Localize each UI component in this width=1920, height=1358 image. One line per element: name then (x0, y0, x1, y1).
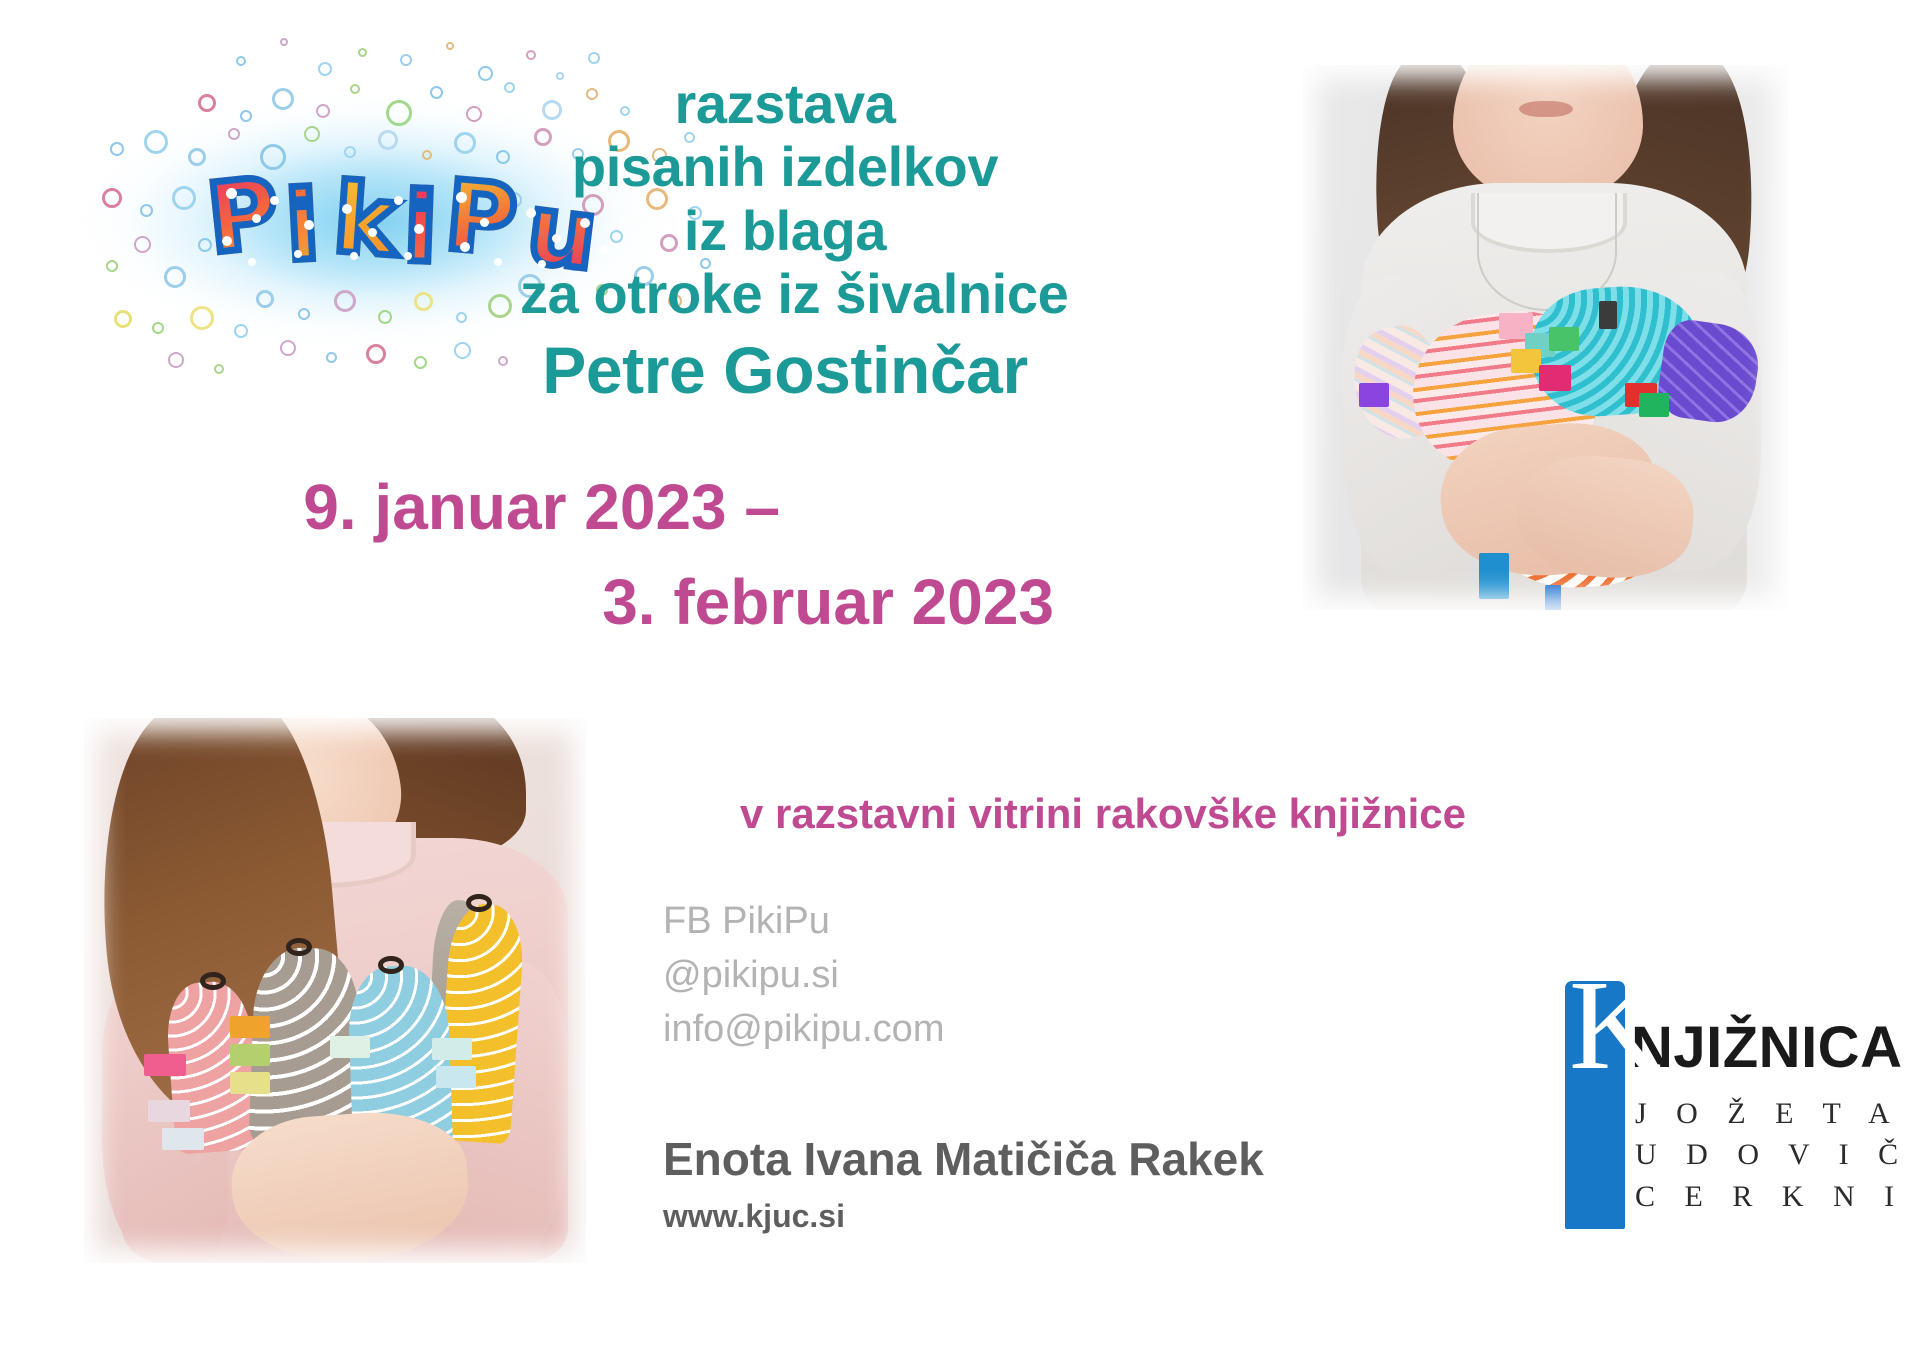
bubble-icon (366, 344, 386, 364)
ribbon-tag (230, 1016, 270, 1038)
ribbon-tag (1479, 553, 1509, 599)
library-logo: K NJIŽNICA J O Ž E T A U D O V I Č A C E… (1565, 975, 1855, 1230)
logo-subtext-line-3: C E R K N I C A (1635, 1176, 1920, 1217)
bubble-icon (358, 48, 367, 57)
organizer-unit: Enota Ivana Matičiča Rakek (663, 1134, 1264, 1185)
date-end: 3. februar 2023 (500, 565, 1054, 639)
bubble-icon (446, 42, 454, 50)
bubble-icon (430, 86, 443, 99)
logo-initial-k: K (1569, 961, 1661, 1089)
ribbon-tag (230, 1072, 270, 1094)
hanging-loop-icon (378, 956, 404, 974)
bubble-icon (256, 290, 274, 308)
bubble-icon (110, 142, 124, 156)
bubble-icon (214, 364, 224, 374)
bubble-icon (422, 150, 432, 160)
ribbon-tag (1359, 383, 1389, 407)
contact-email: info@pikipu.com (663, 1003, 944, 1057)
logo-main-text: NJIŽNICA (1631, 1019, 1902, 1077)
hanging-loop-icon (286, 938, 312, 956)
date-start: 9. januar 2023 – (160, 470, 780, 544)
organizer-block: Enota Ivana Matičiča Rakek www.kjuc.si (663, 1134, 1264, 1234)
bubble-icon (236, 56, 246, 66)
organizer-website: www.kjuc.si (663, 1199, 1264, 1234)
bubble-icon (316, 104, 330, 118)
bubble-icon (298, 308, 310, 320)
bubble-icon (140, 204, 153, 217)
bubble-icon (280, 38, 288, 46)
ribbon-tag (162, 1128, 204, 1150)
bubble-icon (414, 292, 433, 311)
ribbon-tag (144, 1054, 186, 1076)
bubble-icon (272, 88, 294, 110)
bubble-icon (498, 356, 508, 366)
ribbon-tag (1639, 393, 1669, 417)
bubble-icon (234, 324, 248, 338)
logo-letter-k: k (331, 170, 401, 270)
bubble-icon (588, 52, 600, 64)
bubble-icon (134, 236, 151, 253)
logo-letter-i2: i (402, 179, 438, 276)
bubble-icon (164, 266, 186, 288)
bubble-icon (350, 84, 360, 94)
photo-girl-with-bird-toys (1303, 65, 1788, 610)
hanging-loop-icon (200, 972, 226, 990)
contact-block: FB PikiPu @pikipu.si info@pikipu.com (663, 895, 944, 1057)
poster-root: P i k i P u (0, 0, 1920, 1358)
bubble-icon (326, 352, 337, 363)
bubble-icon (168, 352, 184, 368)
bubble-icon (478, 66, 493, 81)
bubble-icon (400, 54, 412, 66)
bubble-icon (414, 356, 427, 369)
ribbon-tag (148, 1100, 190, 1122)
bubble-icon (240, 110, 252, 122)
bubble-icon (190, 306, 214, 330)
ribbon-tag (432, 1038, 472, 1060)
pikipu-wordmark: P i k i P u (208, 162, 628, 282)
ribbon-tag (1511, 349, 1541, 373)
contact-facebook: FB PikiPu (663, 895, 944, 949)
logo-letter-i1: i (284, 177, 322, 275)
bubble-icon (454, 132, 476, 154)
ribbon-tag (330, 1036, 370, 1058)
bubble-icon (378, 310, 392, 324)
bubble-icon (144, 130, 168, 154)
bubble-icon (334, 290, 356, 312)
bubble-icon (378, 130, 398, 150)
bubble-icon (152, 322, 164, 334)
bubble-icon (526, 50, 536, 60)
logo-letter-P1: P (203, 165, 283, 268)
bubble-icon (114, 310, 132, 328)
author-name: Petre Gostinčar (520, 325, 1050, 408)
ribbon-tag (1545, 585, 1561, 610)
bubble-icon (344, 146, 356, 158)
bubble-icon (280, 340, 296, 356)
bubble-icon (172, 186, 196, 210)
bubble-icon (466, 106, 482, 122)
bubble-icon (228, 128, 240, 140)
hanging-loop-icon (466, 894, 492, 912)
logo-letter-u: u (522, 180, 602, 284)
bubble-icon (198, 94, 216, 112)
venue-text: v razstavni vitrini rakovške knjižnice (560, 790, 1466, 838)
bubble-icon (454, 342, 471, 359)
bubble-icon (488, 294, 512, 318)
logo-letter-P2: P (442, 167, 520, 269)
bubble-icon (386, 100, 412, 126)
bubble-icon (456, 312, 467, 323)
photo-girl-with-number-toys (84, 718, 586, 1263)
bubble-icon (102, 188, 122, 208)
logo-subtext-line-1: J O Ž E T A (1635, 1093, 1920, 1134)
bubble-icon (318, 62, 332, 76)
ribbon-tag (1539, 365, 1571, 391)
bubble-icon (106, 260, 118, 272)
mouth (1519, 101, 1573, 117)
headline-line-1: razstava (520, 72, 1050, 135)
ribbon-tag (230, 1044, 270, 1066)
ribbon-tag (436, 1066, 476, 1088)
ribbon-tag (1549, 327, 1579, 351)
contact-instagram: @pikipu.si (663, 949, 944, 1003)
bubble-icon (304, 126, 320, 142)
logo-subtext-line-2: U D O V I Č A (1635, 1134, 1920, 1175)
bubble-icon (504, 82, 515, 93)
logo-subtext: J O Ž E T A U D O V I Č A C E R K N I C … (1635, 1093, 1920, 1217)
ribbon-tag (1599, 301, 1617, 329)
